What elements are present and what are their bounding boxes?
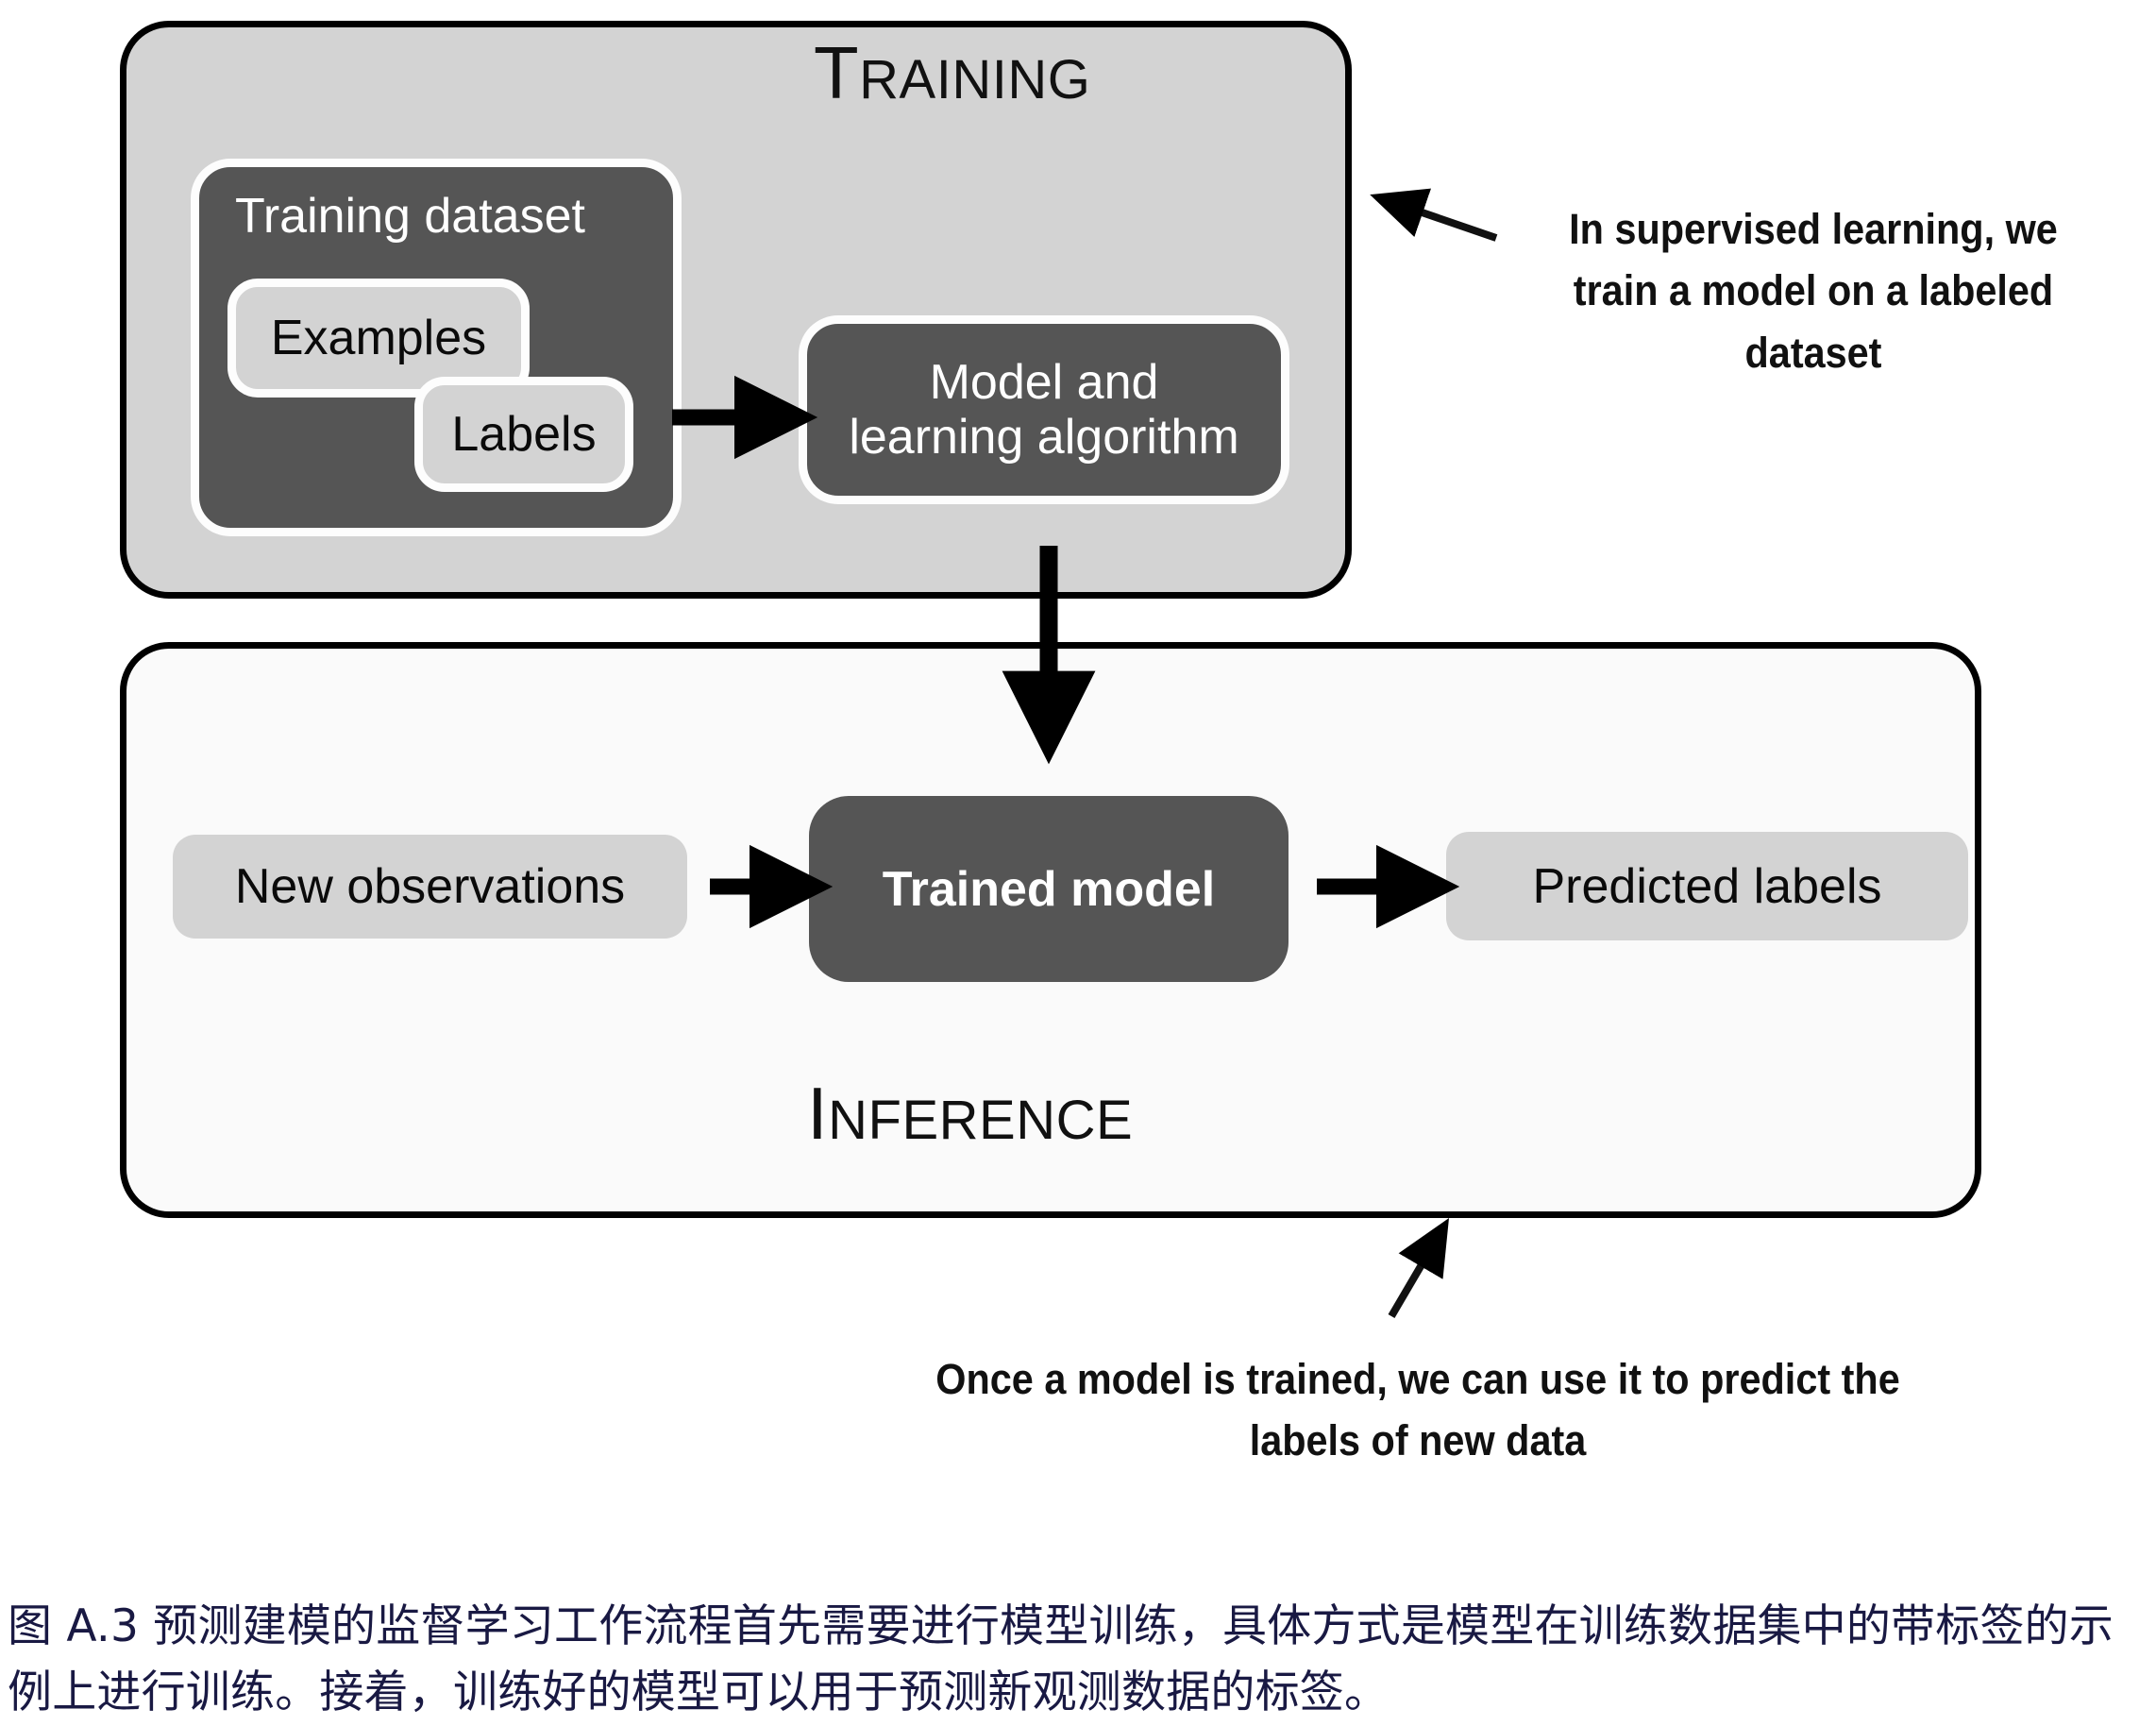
training-dataset-label: Training dataset (235, 188, 585, 245)
trained-model-box: Trained model (809, 796, 1289, 982)
arrow-pointer-left-icon-training (1400, 205, 1496, 238)
figure-caption: 图 A.3 预测建模的监督学习工作流程首先需要进行模型训练，具体方式是模型在训练… (8, 1594, 2148, 1725)
figure-diagram: TRAINING Training dataset Examples Label… (0, 0, 2156, 1726)
new-observations-box: New observations (173, 835, 687, 939)
model-box-line-2: learning algorithm (849, 410, 1238, 465)
trained-model-label: Trained model (883, 861, 1216, 918)
predicted-labels-label: Predicted labels (1533, 858, 1882, 915)
training-section-title: TRAINING (814, 36, 1090, 110)
training-title-remainder: RAINING (859, 49, 1090, 110)
arrow-pointer-up-icon-inference (1391, 1245, 1433, 1316)
examples-label: Examples (271, 310, 486, 366)
model-box-line-1: Model and (930, 355, 1159, 410)
inference-title-capital: I (807, 1072, 828, 1155)
model-and-learning-algorithm-box: Model and learning algorithm (799, 315, 1289, 504)
predicted-labels-box: Predicted labels (1446, 832, 1968, 940)
labels-box: Labels (414, 377, 633, 492)
training-title-capital: T (814, 31, 859, 114)
training-annotation-text: In supervised learning, we train a model… (1548, 198, 2078, 383)
labels-label: Labels (451, 406, 596, 463)
inference-section-title: INFERENCE (807, 1076, 1133, 1150)
training-dataset-box: Training dataset Examples Labels (191, 159, 682, 536)
inference-annotation-text: Once a model is trained, we can use it t… (934, 1348, 1903, 1472)
inference-title-remainder: NFERENCE (828, 1090, 1133, 1151)
new-observations-label: New observations (235, 858, 625, 915)
